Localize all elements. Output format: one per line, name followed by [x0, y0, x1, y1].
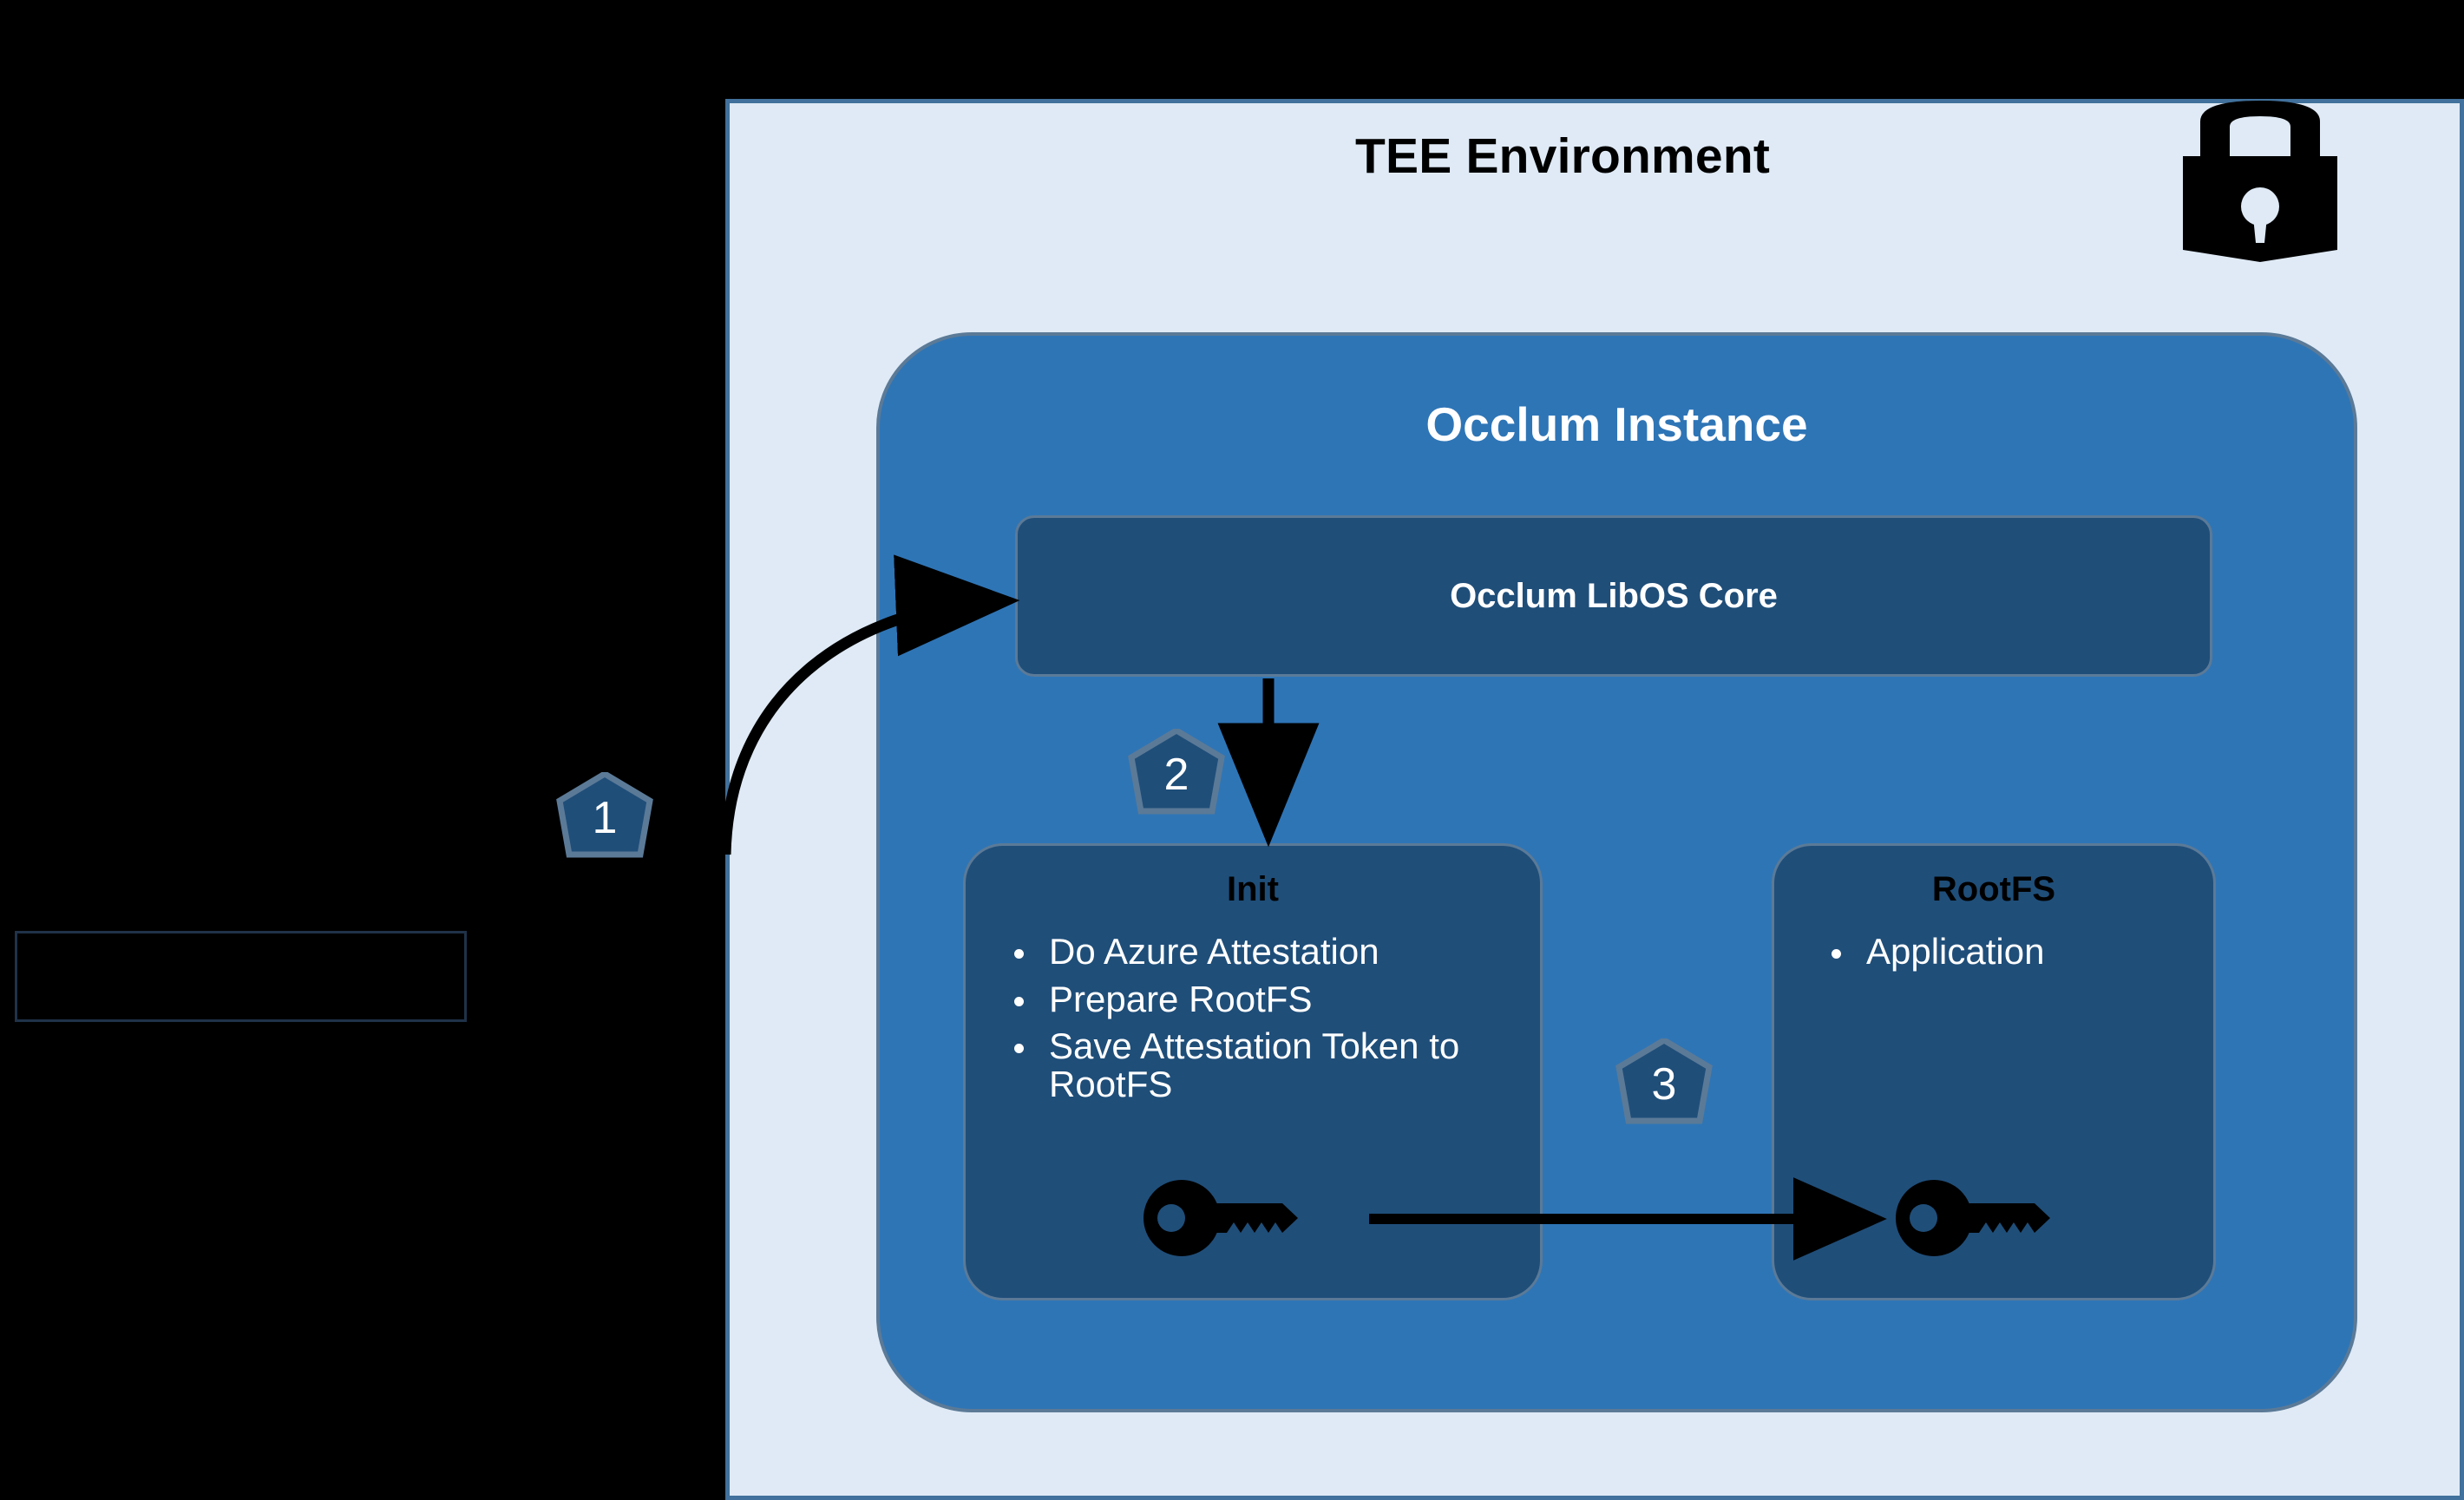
init-bullet-text: Save Attestation Token to RootFS — [1049, 1025, 1459, 1104]
step-badge-3: 3 — [1614, 1038, 1714, 1130]
rootfs-panel-title: RootFS — [1774, 870, 2213, 909]
step-badge-3-number: 3 — [1614, 1038, 1714, 1130]
bullet-dot-icon — [1014, 1044, 1024, 1053]
bullet-dot-icon — [1014, 949, 1024, 959]
list-item: Save Attestation Token to RootFS — [995, 1027, 1528, 1103]
step-badge-2-number: 2 — [1126, 729, 1227, 821]
rootfs-bullet-text: Application — [1866, 931, 2044, 972]
init-bullet-text: Prepare RootFS — [1049, 979, 1312, 1019]
left-placeholder-box — [15, 931, 467, 1022]
step-badge-1: 1 — [554, 772, 655, 864]
list-item: Application — [1812, 933, 2201, 971]
bullet-dot-icon — [1014, 997, 1024, 1006]
occlum-instance-title: Occlum Instance — [880, 396, 2354, 452]
bullet-dot-icon — [1832, 949, 1841, 959]
init-bullet-list: Do Azure Attestation Prepare RootFS Save… — [995, 933, 1528, 1113]
rootfs-bullet-list: Application — [1812, 933, 2201, 980]
diagram-canvas: TEE Environment Occlum Instance Occlum L… — [0, 0, 2464, 1500]
step-badge-2: 2 — [1126, 729, 1227, 821]
step-badge-1-number: 1 — [554, 772, 655, 864]
list-item: Do Azure Attestation — [995, 933, 1528, 971]
list-item: Prepare RootFS — [995, 980, 1528, 1019]
occlum-libos-core-title: Occlum LibOS Core — [1450, 577, 1778, 616]
tee-environment-title: TEE Environment — [730, 128, 2395, 185]
init-panel-title: Init — [966, 870, 1540, 909]
padlock-icon — [2169, 101, 2351, 262]
occlum-libos-core-box: Occlum LibOS Core — [1015, 515, 2212, 677]
key-icon — [1144, 1177, 1301, 1260]
key-icon — [1896, 1177, 2054, 1260]
init-bullet-text: Do Azure Attestation — [1049, 931, 1379, 972]
